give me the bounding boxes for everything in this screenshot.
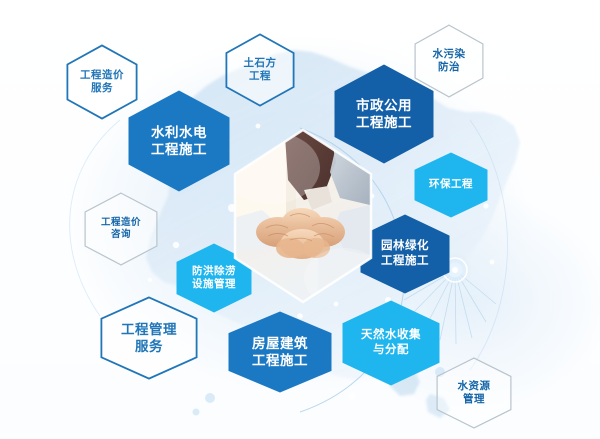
hexagon-capability-diagram: 工程造价 服务土石方 工程水利水电 工程施工市政公用 工程施工水污染 防治环保工… bbox=[0, 0, 600, 439]
hexagon-label: 房屋建筑 工程施工 bbox=[250, 335, 310, 370]
hexagon-water-pollution-control[interactable]: 水污染 防治 bbox=[414, 24, 484, 98]
hexagon-label: 工程造价 咨询 bbox=[99, 217, 143, 241]
hexagon-label: 水利水电 工程施工 bbox=[149, 124, 209, 159]
hexagon-label: 工程管理 服务 bbox=[119, 321, 179, 356]
hexagon-label: 防洪除涝 设施管理 bbox=[190, 265, 238, 292]
hexagon-label: 水污染 防治 bbox=[431, 48, 468, 75]
teamwork-photo-hexagon bbox=[232, 128, 374, 304]
hexagon-label: 园林绿化 工程施工 bbox=[379, 239, 431, 268]
hexagon-label: 天然水收集 与分配 bbox=[359, 328, 423, 357]
hexagon-label: 工程造价 服务 bbox=[78, 69, 126, 96]
hexagon-engineering-cost-consulting[interactable]: 工程造价 咨询 bbox=[84, 192, 158, 266]
hexagon-water-conservancy-hydropower-construction[interactable]: 水利水电 工程施工 bbox=[128, 90, 230, 192]
hexagon-water-resource-management[interactable]: 水资源 管理 bbox=[436, 357, 512, 429]
hexagon-label: 环保工程 bbox=[427, 178, 475, 191]
hexagon-building-construction-engineering[interactable]: 房屋建筑 工程施工 bbox=[228, 311, 332, 393]
hexagon-natural-water-collection-distribution[interactable]: 天然水收集 与分配 bbox=[342, 300, 440, 386]
hexagon-label: 水资源 管理 bbox=[456, 380, 493, 407]
hexagon-engineering-management-service[interactable]: 工程管理 服务 bbox=[100, 296, 198, 380]
hexagon-label: 土石方 工程 bbox=[242, 57, 279, 84]
hexagon-earthwork-engineering[interactable]: 土石方 工程 bbox=[225, 33, 295, 107]
hexagon-label: 市政公用 工程施工 bbox=[354, 97, 414, 132]
hexagon-environmental-protection-engineering[interactable]: 环保工程 bbox=[414, 152, 488, 218]
